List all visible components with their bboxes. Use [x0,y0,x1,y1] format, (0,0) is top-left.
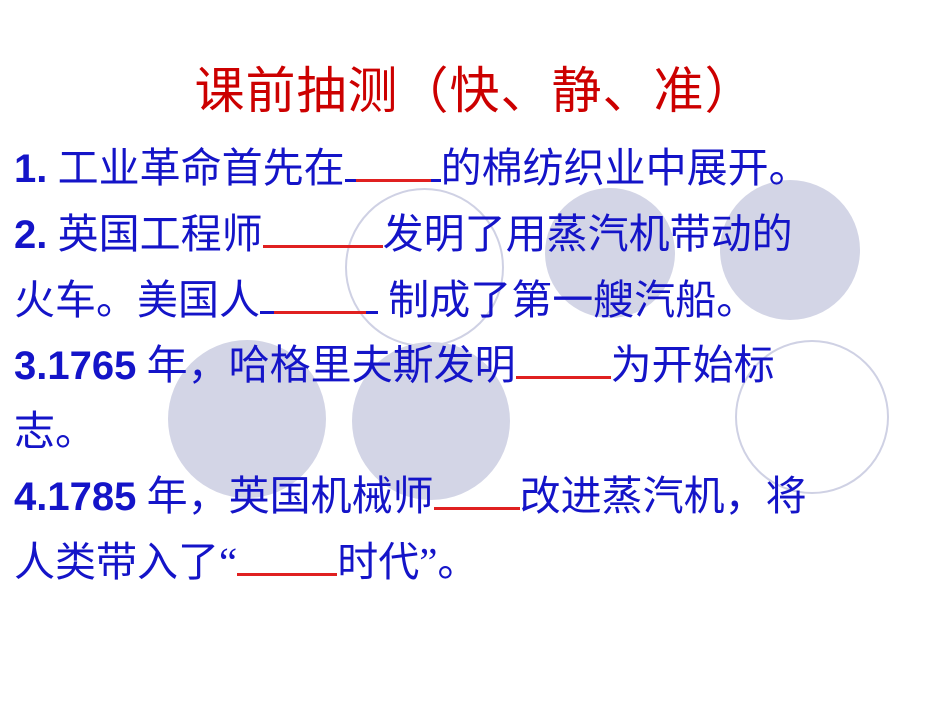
question-3-text-a: 年，哈格里夫斯发明 [147,342,516,388]
question-2-text-c: 火车。美国人 [14,277,260,323]
page-title: 课前抽测（快、静、准） [0,62,950,120]
question-4-text-b: 改进蒸汽机，将 [520,473,807,519]
answer-blank-6[interactable] [237,534,337,576]
question-list: 1. 工业革命首先在的棉纺织业中展开。 2. 英国工程师发明了用蒸汽机带动的 火… [14,136,944,595]
question-item-3-line-2: 志。 [14,399,944,464]
question-item-1: 1. 工业革命首先在的棉纺织业中展开。 [14,136,944,202]
question-1-text-a: 工业革命首先在 [58,145,345,191]
question-3-text-b: 为开始标 [611,342,775,388]
question-2-text-a: 英国工程师 [58,211,263,257]
question-item-2-line-2: 火车。美国人 制成了第一艘汽船。 [14,268,944,333]
answer-blank-4[interactable] [516,337,611,379]
question-number-4: 4. [14,475,47,519]
question-2-text-b: 发明了用蒸汽机带动的 [383,211,793,257]
question-4-text-d: 时代”。 [337,539,478,585]
question-item-4-line-1: 4.1785 年，英国机械师改进蒸汽机，将 [14,464,944,530]
answer-blank-3[interactable] [260,272,378,314]
answer-blank-5[interactable] [434,468,520,510]
answer-blank-2[interactable] [263,206,383,248]
question-number-3: 3. [14,344,47,388]
question-1-text-b: 的棉纺织业中展开。 [441,145,810,191]
question-4-text-c: 人类带入了“ [14,539,237,585]
question-3-text-c: 志。 [14,408,96,454]
question-4-text-a: 年，英国机械师 [147,473,434,519]
question-item-3-line-1: 3.1765 年，哈格里夫斯发明为开始标 [14,333,944,399]
question-2-text-d: 制成了第一艘汽船。 [378,277,757,323]
question-4-year: 1785 [47,475,136,519]
question-3-year: 1765 [47,344,136,388]
question-item-2-line-1: 2. 英国工程师发明了用蒸汽机带动的 [14,202,944,268]
presentation-slide: 课前抽测（快、静、准） 1. 工业革命首先在的棉纺织业中展开。 2. 英国工程师… [0,0,950,713]
question-item-4-line-2: 人类带入了“时代”。 [14,530,944,595]
question-number-2: 2. [14,213,47,257]
answer-blank-1[interactable] [345,140,441,182]
question-number-1: 1. [14,147,47,191]
